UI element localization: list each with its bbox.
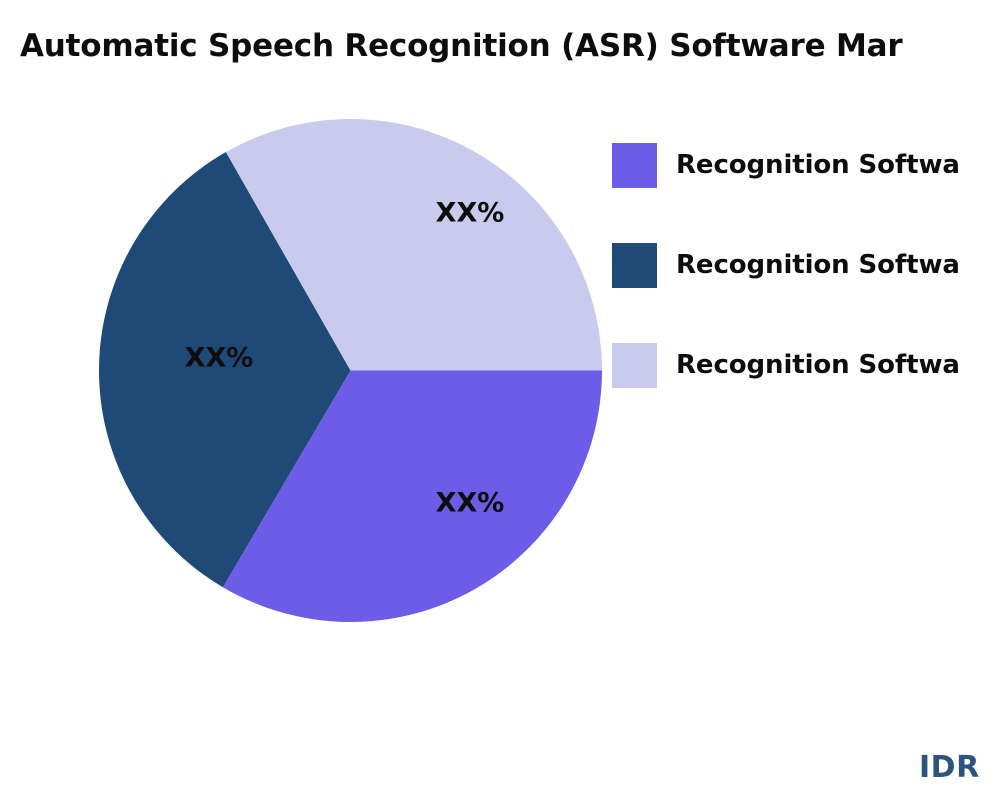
legend-item[interactable]: Recognition Softwa [612, 115, 1000, 215]
pie-slice-label: XX% [436, 198, 505, 229]
pie-plot-area: XX%XX%XX% [99, 119, 602, 622]
legend-item-label: Recognition Softwa [676, 250, 960, 280]
pie-chart-figure: Automatic Speech Recognition (ASR) Softw… [0, 0, 1000, 800]
pie-slice-label: XX% [185, 343, 254, 374]
pie-slice-label: XX% [436, 488, 505, 519]
legend-item[interactable]: Recognition Softwa [612, 215, 1000, 315]
pie-svg: XX%XX%XX% [99, 119, 602, 622]
pie-slices-group [99, 119, 602, 622]
idr-watermark: IDR [919, 750, 980, 785]
legend-swatch-icon [612, 343, 657, 388]
legend-swatch-icon [612, 243, 657, 288]
legend-item[interactable]: Recognition Softwa [612, 315, 1000, 415]
legend-item-label: Recognition Softwa [676, 150, 960, 180]
legend-swatch-icon [612, 143, 657, 188]
chart-title: Automatic Speech Recognition (ASR) Softw… [20, 24, 1000, 68]
legend-item-label: Recognition Softwa [676, 350, 960, 380]
chart-legend: Recognition Softwa Recognition Softwa Re… [612, 115, 1000, 415]
